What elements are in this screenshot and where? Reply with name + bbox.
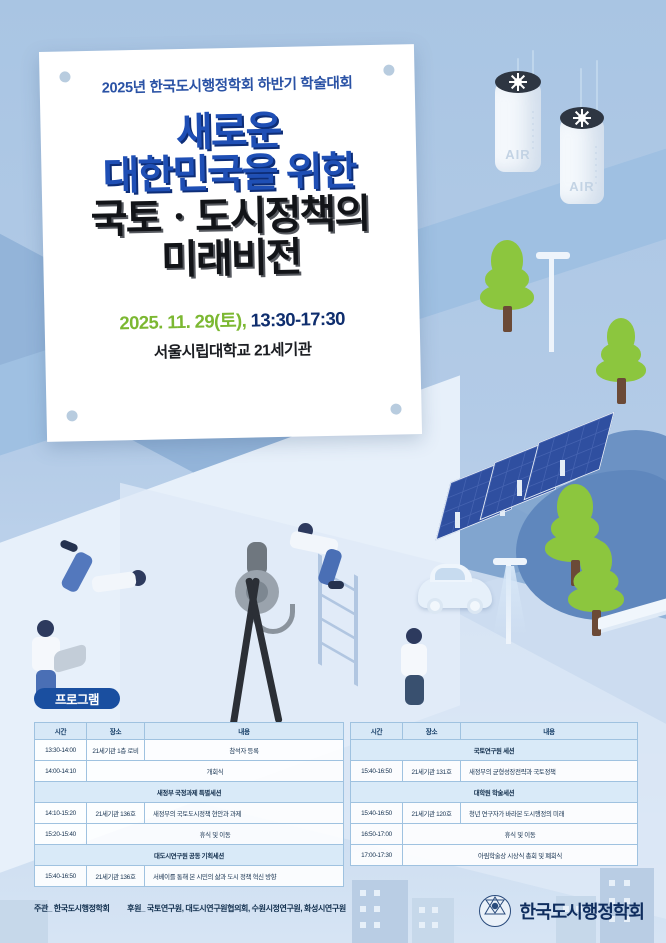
column-header-time: 시간 [351,723,403,740]
program-badge: 프로그램 [34,688,120,709]
cell-content: 휴식 및 이동 [403,824,638,845]
column-header-time: 시간 [35,723,87,740]
title-line-3: 국토ㆍ도시정책의 [42,192,418,242]
table-row: 15:40-16:5021세기관 136호서베이를 통해 본 시민의 삶과 도시… [35,866,344,887]
program-left-body: 13:30-14:0021세기관 1층 로비참석자 등록14:00-14:10개… [35,740,344,887]
table-row: 15:40-16:5021세기관 120호청년 연구자가 바라본 도시행정의 미… [351,803,638,824]
cell-time: 15:40-16:50 [351,803,403,824]
person-head [37,620,54,637]
column-header-place: 장소 [403,723,461,740]
program-table-right: 시간 장소 내용 국토연구원 세션15:40-16:5021세기관 131호새정… [350,722,638,866]
cell-place: 21세기관 131호 [403,761,461,782]
solar-panel-leg [455,512,460,528]
section-title: 새정부 국정과제 특별세션 [35,782,344,803]
cell-time: 13:30-14:00 [35,740,87,761]
fan-icon [495,71,541,93]
table-header-row: 시간 장소 내용 [351,723,638,740]
solar-panel-leg [517,480,522,496]
cell-content: 참석자 등록 [145,740,344,761]
organization-block: 한국도시행정학회 [479,895,644,927]
host-label: 주관_ 한국도시행정학회 [34,904,109,913]
event-kicker: 2025년 한국도시행정학회 하반기 학술대회 [40,70,415,99]
person-torso [401,644,427,676]
sponsor-label: 후원_ 국토연구원, 대도시연구원협의회, 수원시정연구원, 화성시연구원 [127,904,346,913]
event-date-time: 13:30-17:30 [250,307,345,330]
column-header-place: 장소 [87,723,145,740]
table-row: 14:10-15:2021세기관 136호새정부의 국토도시정책 현안과 과제 [35,803,344,824]
poster-canvas: AIR AIR [0,0,666,943]
cell-time: 15:40-16:50 [35,866,87,887]
program-table-left: 시간 장소 내용 13:30-14:0021세기관 1층 로비참석자 등록14:… [34,722,344,887]
tree [596,318,646,404]
event-date: 2025. 11. 29(토), 13:30-17:30 [44,303,419,337]
cell-place: 21세기관 136호 [87,866,145,887]
car-window [435,568,465,580]
card-pin-icon [66,410,77,421]
cell-place: 21세기관 136호 [87,803,145,824]
table-row: 17:00-17:30아림학술상 시상식 총회 및 폐회식 [351,845,638,866]
vent-dots [532,111,534,149]
section-title: 대학원 학술세션 [351,782,638,803]
cell-content: 새정부의 균형성장전략과 국토정책 [461,761,638,782]
street-lamp-pole [549,256,554,352]
main-title: 새로운 대한민국을 위한 국토ㆍ도시정책의 미래비전 [40,107,418,284]
cell-time: 17:00-17:30 [351,845,403,866]
table-section-row: 대도시연구원 공동 기획세션 [35,845,344,866]
cell-content: 개회식 [87,761,344,782]
column-header-content: 내용 [461,723,638,740]
solar-panel-leg [560,460,565,476]
person-legs [405,675,424,705]
cell-time: 15:20-15:40 [35,824,87,845]
event-venue: 서울시립대학교 21세기관 [45,335,420,365]
society-logo-icon [479,895,511,927]
air-label: AIR [495,147,541,162]
column-header-content: 내용 [145,723,344,740]
table-row: 14:00-14:10개회식 [35,761,344,782]
organization-name: 한국도시행정학회 [520,898,644,924]
table-row: 16:50-17:00휴식 및 이동 [351,824,638,845]
tree [480,240,534,332]
event-date-day: 2025. 11. 29(토), [119,309,246,333]
cell-time: 14:10-15:20 [35,803,87,824]
section-title: 대도시연구원 공동 기획세션 [35,845,344,866]
cell-content: 새정부의 국토도시정책 현안과 과제 [145,803,344,824]
cell-time: 16:50-17:00 [351,824,403,845]
cell-time: 15:40-16:50 [351,761,403,782]
person-head [406,628,422,644]
cell-time: 14:00-14:10 [35,761,87,782]
person-shoe [328,581,344,589]
sponsor-line: 주관_ 한국도시행정학회 후원_ 국토연구원, 대도시연구원협의회, 수원시정연… [34,903,346,914]
cell-content: 휴식 및 이동 [87,824,344,845]
table-section-row: 대학원 학술세션 [351,782,638,803]
cell-place: 21세기관 120호 [403,803,461,824]
car-wheel [427,598,443,614]
table-header-row: 시간 장소 내용 [35,723,344,740]
cell-place: 21세기관 1층 로비 [87,740,145,761]
cell-content: 아림학술상 시상식 총회 및 폐회식 [403,845,638,866]
title-card: 2025년 한국도시행정학회 하반기 학술대회 새로운 대한민국을 위한 국토ㆍ… [39,44,422,442]
air-label: AIR [560,179,604,194]
street-lamp-head [536,252,570,259]
title-line-4: 미래비전 [43,234,419,284]
table-row: 15:20-15:40휴식 및 이동 [35,824,344,845]
table-section-row: 국토연구원 세션 [351,740,638,761]
cell-content: 청년 연구자가 바라본 도시행정의 미래 [461,803,638,824]
air-purifier-unit-secondary: AIR [560,116,604,204]
program-right-body: 국토연구원 세션15:40-16:5021세기관 131호새정부의 균형성장전략… [351,740,638,866]
car-wheel [467,598,483,614]
table-section-row: 새정부 국정과제 특별세션 [35,782,344,803]
air-purifier-unit: AIR [495,80,541,172]
poster-footer: 주관_ 한국도시행정학회 후원_ 국토연구원, 대도시연구원협의회, 수원시정연… [0,885,666,943]
cell-content: 서베이를 통해 본 시민의 삶과 도시 정책 혁신 방향 [145,866,344,887]
table-row: 13:30-14:0021세기관 1층 로비참석자 등록 [35,740,344,761]
fan-icon [560,107,604,129]
street-lamp-head [493,558,527,565]
logo-emblem [484,896,506,915]
section-title: 국토연구원 세션 [351,740,638,761]
table-row: 15:40-16:5021세기관 131호새정부의 균형성장전략과 국토정책 [351,761,638,782]
electric-car [418,578,492,608]
card-pin-icon [390,403,401,414]
